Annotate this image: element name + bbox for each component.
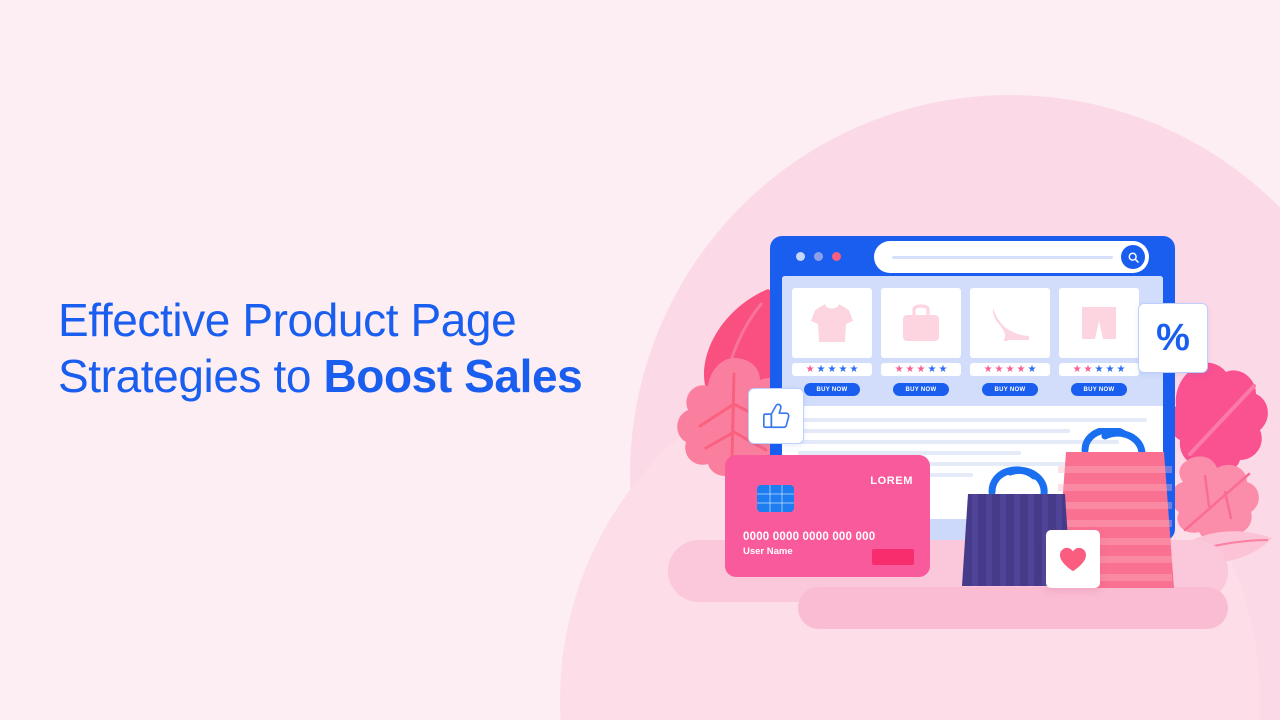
search-icon[interactable] xyxy=(1121,245,1145,269)
t-shirt-icon xyxy=(809,301,855,345)
browser-titlebar xyxy=(782,236,1163,276)
star-empty: ★ xyxy=(927,365,936,375)
favorite-badge[interactable] xyxy=(1046,530,1100,588)
star-filled: ★ xyxy=(917,365,926,375)
percent-badge[interactable]: % xyxy=(1138,303,1208,373)
buy-now-button[interactable]: BUY NOW xyxy=(893,383,949,396)
product-thumbnail xyxy=(970,288,1050,358)
product-card[interactable]: ★ ★ ★ ★ ★ BUY NOW xyxy=(970,288,1050,396)
star-filled: ★ xyxy=(1073,365,1082,375)
star-filled: ★ xyxy=(1016,365,1025,375)
star-filled: ★ xyxy=(1084,365,1093,375)
window-dot-red[interactable] xyxy=(832,252,841,261)
search-placeholder-line xyxy=(892,256,1113,259)
page-title: Effective Product Page Strategies to Boo… xyxy=(58,292,678,404)
placeholder-line xyxy=(798,429,1070,433)
like-badge[interactable] xyxy=(748,388,804,444)
headline-line-1: Effective Product Page xyxy=(58,294,516,346)
product-thumbnail xyxy=(792,288,872,358)
star-filled: ★ xyxy=(906,365,915,375)
product-card[interactable]: ★ ★ ★ ★ ★ BUY NOW xyxy=(792,288,872,396)
placeholder-line xyxy=(798,418,1147,422)
star-filled: ★ xyxy=(895,365,904,375)
headline-line-2-normal: Strategies to xyxy=(58,350,323,402)
window-dot-grey[interactable] xyxy=(796,252,805,261)
star-empty: ★ xyxy=(817,365,826,375)
rating-stars: ★ ★ ★ ★ ★ xyxy=(881,363,961,376)
headline-line-2-bold: Boost Sales xyxy=(323,350,582,402)
star-empty: ★ xyxy=(849,365,858,375)
star-empty: ★ xyxy=(1095,365,1104,375)
rating-stars: ★ ★ ★ ★ ★ xyxy=(1059,363,1139,376)
star-filled: ★ xyxy=(1006,365,1015,375)
base-pill-lower xyxy=(798,587,1228,629)
heart-icon xyxy=(1058,546,1088,573)
card-holder-name: User Name xyxy=(743,546,793,557)
card-accent-strip xyxy=(872,549,914,565)
card-chip-icon xyxy=(757,485,794,512)
product-card-list: ★ ★ ★ ★ ★ BUY NOW xyxy=(792,288,1153,396)
product-thumbnail xyxy=(881,288,961,358)
high-heel-icon xyxy=(987,303,1033,343)
percent-label: % xyxy=(1156,319,1190,357)
illustration-stage: Effective Product Page Strategies to Boo… xyxy=(0,0,1280,720)
star-filled: ★ xyxy=(984,365,993,375)
star-empty: ★ xyxy=(1116,365,1125,375)
star-filled: ★ xyxy=(995,365,1004,375)
buy-now-button[interactable]: BUY NOW xyxy=(982,383,1038,396)
product-grid: ★ ★ ★ ★ ★ BUY NOW xyxy=(782,276,1163,406)
shorts-icon xyxy=(1078,303,1120,343)
window-dot-purple[interactable] xyxy=(814,252,823,261)
credit-card: LOREM 0000 0000 0000 000 000 User Name xyxy=(725,455,930,577)
star-empty: ★ xyxy=(828,365,837,375)
star-empty: ★ xyxy=(938,365,947,375)
product-card[interactable]: ★ ★ ★ ★ ★ BUY NOW xyxy=(881,288,961,396)
product-card[interactable]: ★ ★ ★ ★ ★ BUY NOW xyxy=(1059,288,1139,396)
star-empty: ★ xyxy=(838,365,847,375)
star-empty: ★ xyxy=(1027,365,1036,375)
star-empty: ★ xyxy=(1105,365,1114,375)
handbag-icon xyxy=(900,303,942,343)
rating-stars: ★ ★ ★ ★ ★ xyxy=(792,363,872,376)
product-thumbnail xyxy=(1059,288,1139,358)
search-input[interactable] xyxy=(874,241,1149,273)
thumbs-up-icon xyxy=(761,401,791,431)
card-brand: LOREM xyxy=(870,475,913,487)
card-number: 0000 0000 0000 000 000 xyxy=(743,531,875,543)
buy-now-button[interactable]: BUY NOW xyxy=(804,383,860,396)
star-filled: ★ xyxy=(806,365,815,375)
rating-stars: ★ ★ ★ ★ ★ xyxy=(970,363,1050,376)
buy-now-button[interactable]: BUY NOW xyxy=(1071,383,1127,396)
